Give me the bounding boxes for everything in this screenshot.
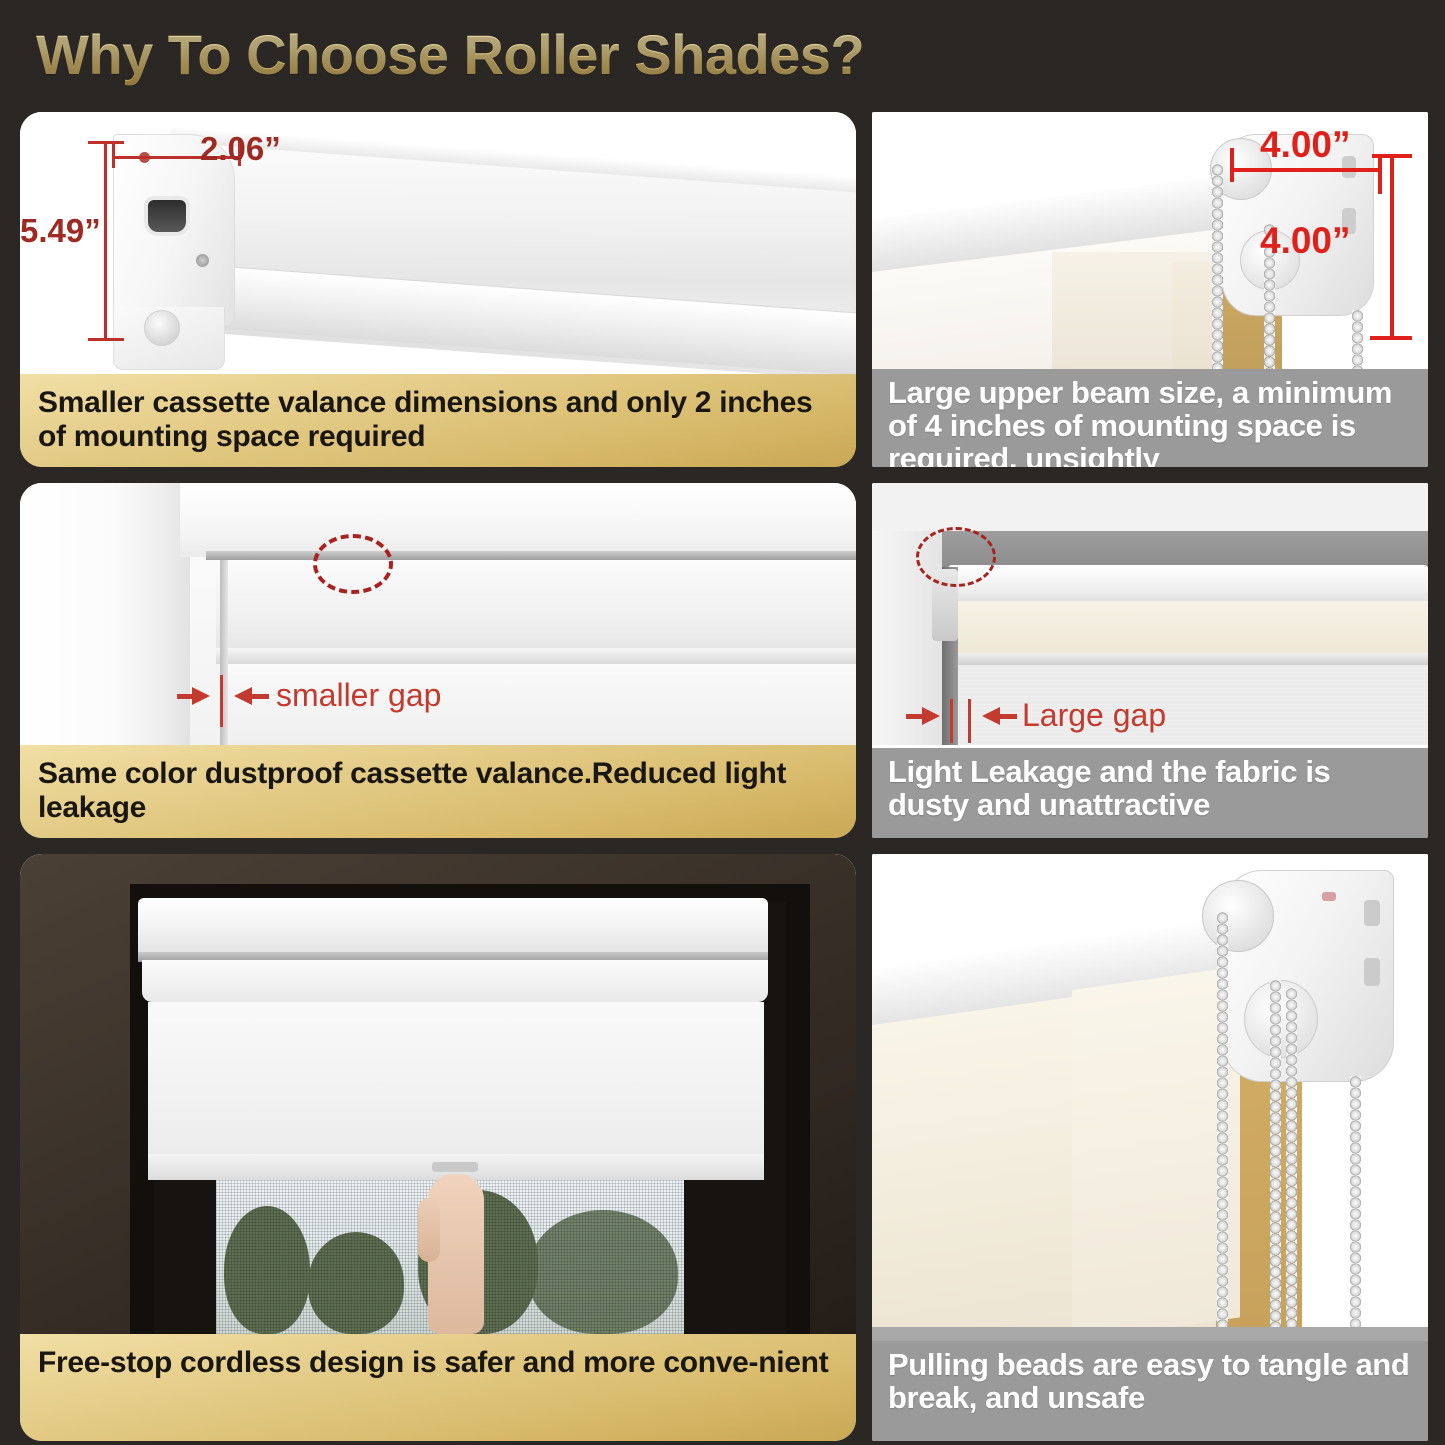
card-light-leakage: Large gap Light Leakage and the fabric i…: [872, 483, 1428, 838]
card-valance-dimensions: 5.49” 2.06” Smaller cassette valance dim…: [20, 112, 856, 467]
card-valance-dimensions-photo: 5.49” 2.06”: [20, 112, 856, 374]
card-dustproof-valance: smaller gap Same color dustproof cassett…: [20, 483, 856, 838]
card-upper-beam-size: 4.00” 4.00” Large upper beam size, a min…: [872, 112, 1428, 467]
large-gap-label: Large gap: [1022, 697, 1166, 734]
card-pulling-beads: Pulling beads are easy to tangle and bre…: [872, 854, 1428, 1441]
shade-pull-tab: [432, 1162, 478, 1172]
bead-chain-middle-2: [1286, 988, 1297, 1341]
width-dimension-label: 2.06”: [200, 130, 281, 168]
end-cap-slot-icon: [148, 200, 186, 232]
gap-arrow-right-tail: [999, 714, 1017, 719]
gap-arrow-left-tail: [906, 714, 924, 719]
gap-arrow-left-tail: [177, 694, 195, 699]
wall-upper: [872, 483, 1428, 531]
card-light-leakage-caption: Light Leakage and the fabric is dusty an…: [872, 748, 1428, 838]
gap-arrow-right-tail: [251, 694, 269, 699]
height-dimension-line: [104, 141, 107, 341]
roller-end-disc: [1202, 880, 1274, 952]
cassette-valance: [216, 560, 856, 656]
beam-width-tick-left: [1230, 148, 1234, 182]
window-casing-inner-edge: [206, 551, 856, 560]
height-dimension-tick-top: [88, 141, 124, 144]
beam-height-label: 4.00”: [1260, 220, 1351, 262]
beam-width-label: 4.00”: [1260, 124, 1351, 166]
cassette-valance-head: [138, 898, 768, 956]
page-header: Why To Choose Roller Shades?: [0, 0, 1445, 108]
width-dimension-tick-left: [112, 142, 115, 168]
card-upper-beam-size-caption: Large upper beam size, a minimum of 4 in…: [872, 369, 1428, 467]
card-cordless-design: Free-stop cordless design is safer and m…: [20, 854, 856, 1441]
bead-chain-right: [1352, 310, 1363, 374]
card-pulling-beads-caption: Pulling beads are easy to tangle and bre…: [872, 1341, 1428, 1441]
bead-chain-left: [1212, 164, 1223, 374]
fabric-bottom-rail: [956, 653, 1428, 665]
bead-chain-middle: [1270, 980, 1281, 1341]
cream-fabric-front: [1072, 966, 1240, 1341]
card-dustproof-valance-photo: smaller gap: [20, 483, 856, 745]
beam-height-tick-bottom: [1370, 336, 1412, 340]
beam-height-line: [1390, 154, 1394, 340]
card-upper-beam-size-photo: 4.00” 4.00”: [872, 112, 1428, 374]
height-dimension-label: 5.49”: [20, 212, 101, 250]
end-cap-screw-mid-icon: [196, 254, 209, 267]
card-cordless-design-caption: Free-stop cordless design is safer and m…: [20, 1334, 856, 1441]
floor-shadow: [872, 1327, 1428, 1341]
bracket-slot-lower-icon: [1364, 958, 1380, 986]
gap-marker-line-a: [950, 699, 953, 743]
valance-bottom-rail: [216, 648, 856, 664]
card-cordless-design-photo: [20, 854, 856, 1334]
card-light-leakage-photo: Large gap: [872, 483, 1428, 745]
bead-chain-right: [1350, 1076, 1361, 1341]
gap-highlight-ellipse: [916, 527, 996, 587]
valance-lower-lip: [142, 960, 768, 1002]
gap-highlight-ellipse: [313, 534, 393, 594]
ceiling-recess-band: [942, 531, 1428, 567]
hand-thumb: [418, 1198, 440, 1262]
card-pulling-beads-photo: [872, 854, 1428, 1341]
comparison-grid: 5.49” 2.06” Smaller cassette valance dim…: [0, 108, 1445, 1445]
beam-height-tick-top: [1372, 154, 1412, 158]
bracket-slot-upper-icon: [1364, 900, 1380, 926]
beam-width-tick-right: [1378, 158, 1382, 194]
card-valance-dimensions-caption: Smaller cassette valance dimensions and …: [20, 374, 856, 467]
bracket-indicator-icon: [1322, 892, 1336, 901]
lower-end-disc: [1244, 980, 1318, 1058]
beam-width-line: [1230, 168, 1382, 172]
bead-chain-left: [1217, 912, 1228, 1341]
window-casing-left: [20, 483, 190, 745]
cream-fabric-band: [956, 601, 1428, 657]
card-dustproof-valance-caption: Same color dustproof cassette valance.Re…: [20, 745, 856, 838]
cream-fabric-overlay: [1052, 252, 1222, 374]
gap-arrow-left-icon: [922, 707, 940, 725]
gap-marker-line-b: [968, 699, 971, 743]
end-cap-bottom-pin-icon: [144, 310, 180, 346]
height-dimension-tick-bottom: [88, 338, 124, 341]
gap-arrow-right-icon: [234, 687, 252, 705]
window-casing-top: [180, 483, 856, 557]
gap-arrow-right-icon: [982, 707, 1000, 725]
page-title: Why To Choose Roller Shades?: [36, 22, 864, 87]
gap-marker-line: [220, 675, 223, 727]
smaller-gap-label: smaller gap: [276, 677, 441, 714]
